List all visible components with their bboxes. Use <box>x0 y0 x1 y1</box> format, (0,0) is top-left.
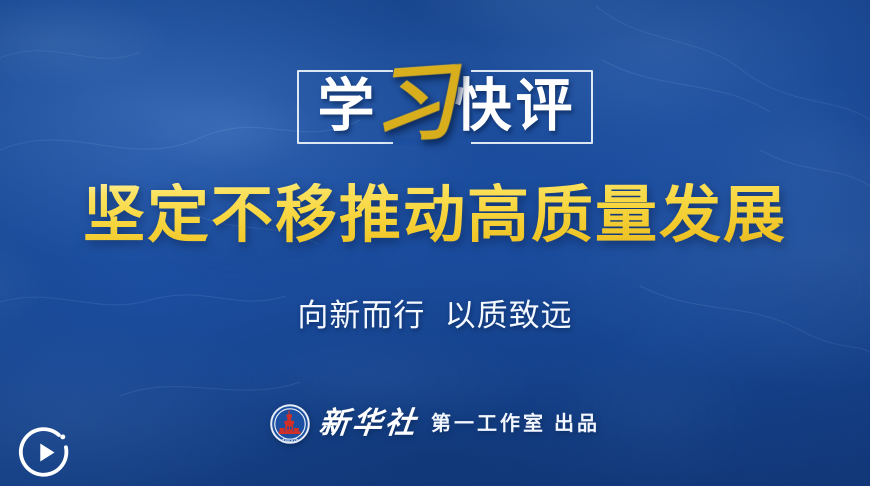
program-title-badge: 学 习 快 评 <box>297 54 593 158</box>
badge-characters: 学 习 快 评 <box>297 54 593 158</box>
xinhua-agency-logo-icon: XINHUA <box>270 404 310 444</box>
credit-studio: 第一工作室 出品 <box>431 414 600 434</box>
badge-char-3: 快 <box>453 78 514 135</box>
headline: 坚定不移推动高质量发展 <box>0 183 870 250</box>
credit-line: XINHUA 新华社 第一工作室 出品 <box>0 404 870 444</box>
credit-brand: 新华社 <box>317 409 423 439</box>
badge-char-4: 评 <box>514 78 575 135</box>
subtitle: 向新而行 以质致远 <box>0 297 870 334</box>
play-button[interactable] <box>17 424 74 481</box>
badge-char-2-gold: 习 <box>368 59 462 149</box>
play-circle-icon[interactable] <box>17 424 74 481</box>
badge-char-1: 学 <box>315 78 376 135</box>
video-poster: 学 习 快 评 坚定不移推动高质量发展 向新而行 以质致远 <box>0 0 870 486</box>
